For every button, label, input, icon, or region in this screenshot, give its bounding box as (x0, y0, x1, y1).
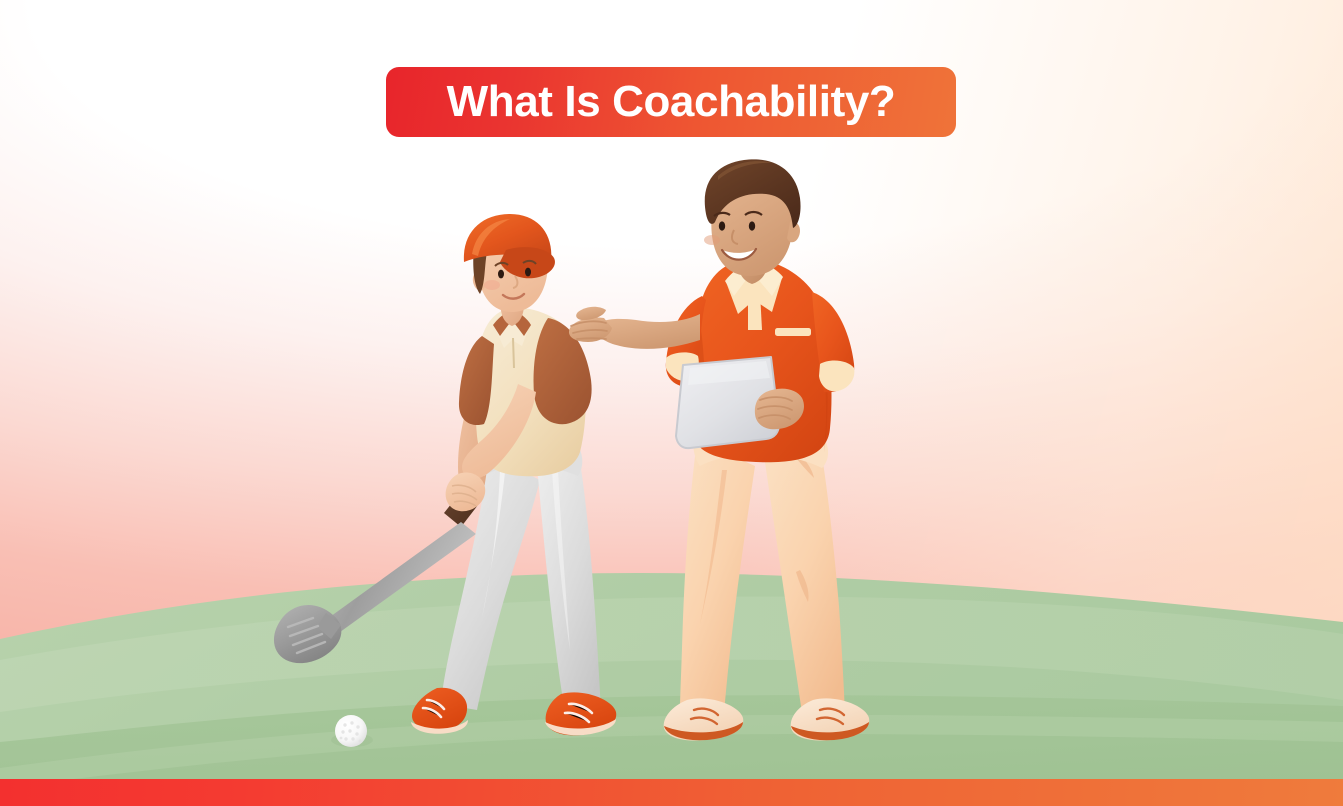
coach-chest-pocket (775, 328, 811, 336)
coach-shirt-placket (748, 292, 762, 330)
bottom-accent-bar (0, 779, 1343, 806)
coach-left-eye (719, 221, 725, 230)
coach-right-cuff (819, 361, 854, 392)
coach-left-pant-leg (680, 440, 755, 714)
illustration-stage: What Is Coachability? (0, 0, 1343, 806)
coach-cheek-blush (704, 235, 720, 245)
page-title: What Is Coachability? (447, 80, 896, 124)
title-banner: What Is Coachability? (386, 67, 956, 137)
coach-right-eye (749, 221, 755, 230)
